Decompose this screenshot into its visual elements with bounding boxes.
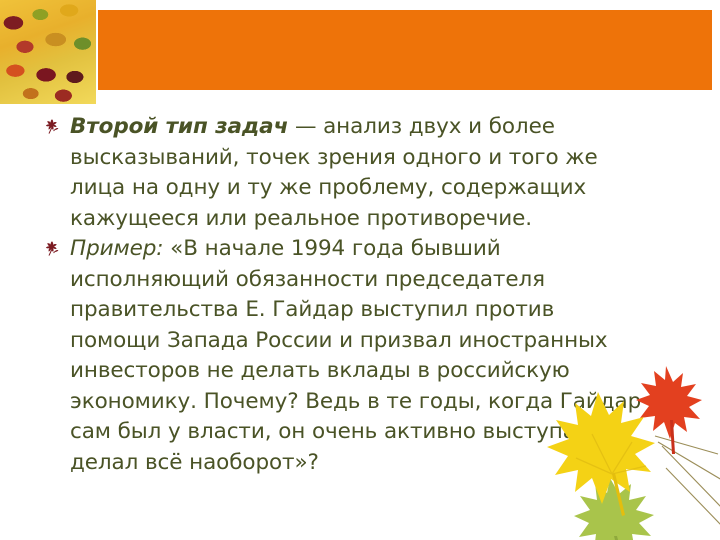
page-title [98,10,712,22]
bullet-1-lead: Второй тип задач [70,114,288,139]
bullet-2-lead: Пример: [70,236,163,261]
body-text-block: Второй тип задач — анализ двух и более в… [42,112,642,478]
green-maple-leaf [574,478,654,540]
bullet-paragraph-1: Второй тип задач — анализ двух и более в… [42,112,642,234]
bullet-paragraph-2: Пример: «В начале 1994 года бывший испол… [42,234,642,478]
slide-canvas: Второй тип задач — анализ двух и более в… [0,0,720,540]
title-banner[interactable] [98,10,712,90]
red-maple-leaf [636,366,702,454]
autumn-leaves-photo [0,0,96,104]
bullet-2-text: «В начале 1994 года бывший исполняющий о… [70,236,641,475]
leaf-bullet-icon [42,238,62,258]
leaf-bullet-icon [42,116,62,136]
